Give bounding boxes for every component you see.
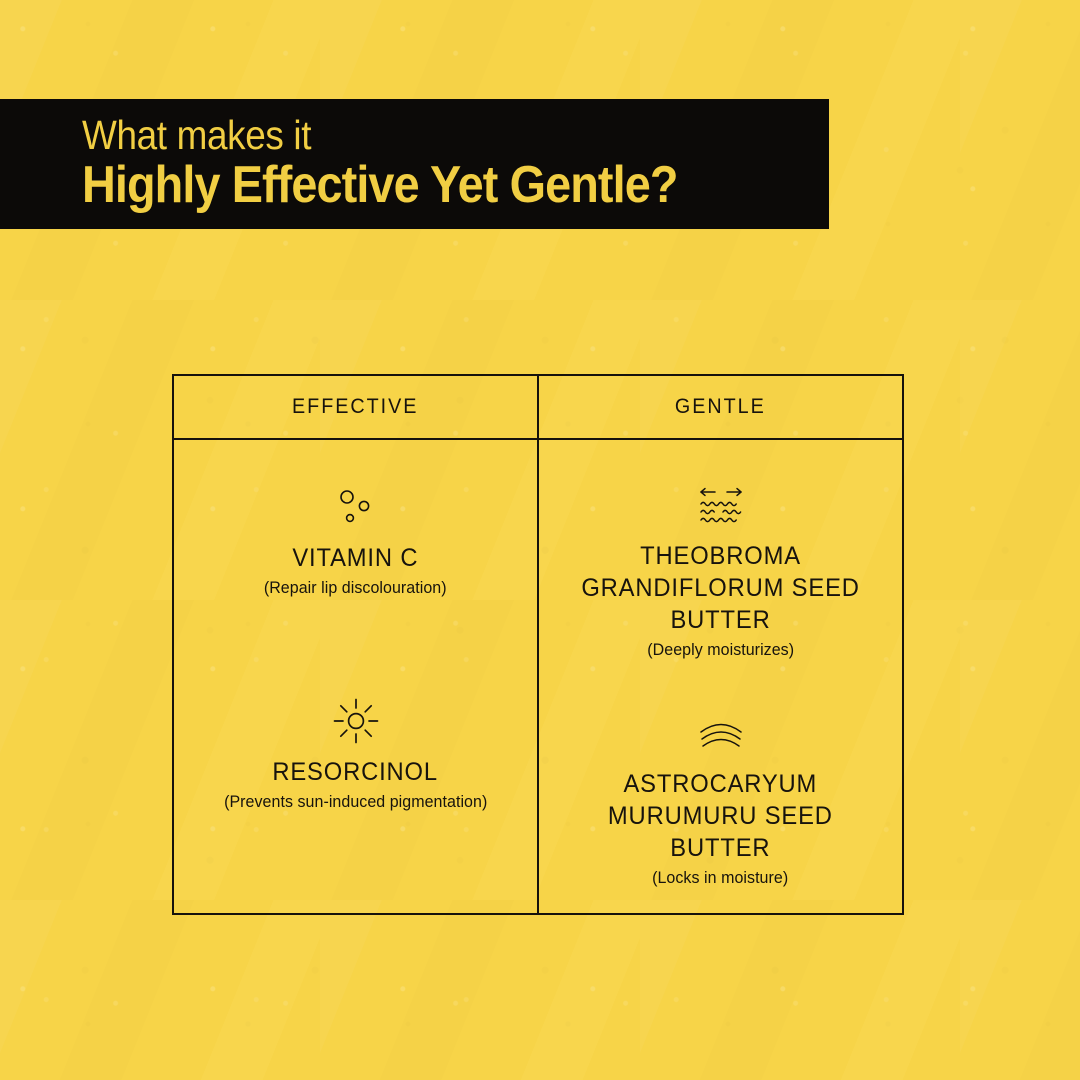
table-header-gentle: GENTLE <box>539 376 902 438</box>
ingredient-name-astrocaryum: ASTROCARYUM MURUMURU SEED BUTTER <box>608 768 833 864</box>
ingredient-resorcinol: RESORCINOL (Prevents sun-induced pigment… <box>174 698 537 812</box>
sun-icon <box>331 698 381 744</box>
column-label-gentle: GENTLE <box>675 395 766 419</box>
bubbles-icon <box>332 484 380 530</box>
ingredient-note-astrocaryum: (Locks in moisture) <box>652 869 788 888</box>
ingredient-theobroma: THEOBROMA GRANDIFLORUM SEED BUTTER (Deep… <box>539 484 902 660</box>
effective-column-body: VITAMIN C (Repair lip discolouration) <box>174 440 539 913</box>
moisture-barrier-arcs-icon <box>693 712 749 758</box>
ingredient-name-vitamin-c: VITAMIN C <box>292 542 418 574</box>
hydration-waves-icon <box>695 484 747 530</box>
header-banner: What makes it Highly Effective Yet Gentl… <box>0 99 829 229</box>
ingredient-vitamin-c: VITAMIN C (Repair lip discolouration) <box>174 484 537 598</box>
table-body-row: VITAMIN C (Repair lip discolouration) <box>174 440 902 913</box>
comparison-table: EFFECTIVE GENTLE VITAMIN C (Repair lip d… <box>172 374 904 915</box>
table-header-row: EFFECTIVE GENTLE <box>174 376 902 440</box>
ingredient-astrocaryum: ASTROCARYUM MURUMURU SEED BUTTER (Locks … <box>539 712 902 888</box>
ingredient-name-resorcinol: RESORCINOL <box>273 756 439 788</box>
gentle-column-body: THEOBROMA GRANDIFLORUM SEED BUTTER (Deep… <box>539 440 902 913</box>
table-header-effective: EFFECTIVE <box>174 376 539 438</box>
ingredient-note-theobroma: (Deeply moisturizes) <box>647 641 794 660</box>
ingredient-name-theobroma: THEOBROMA GRANDIFLORUM SEED BUTTER <box>581 540 859 636</box>
ingredient-note-vitamin-c: (Repair lip discolouration) <box>264 579 447 598</box>
column-label-effective: EFFECTIVE <box>292 395 418 419</box>
ingredient-note-resorcinol: (Prevents sun-induced pigmentation) <box>224 793 487 812</box>
headline-line-2: Highly Effective Yet Gentle? <box>82 158 754 213</box>
headline-line-1: What makes it <box>82 115 754 157</box>
